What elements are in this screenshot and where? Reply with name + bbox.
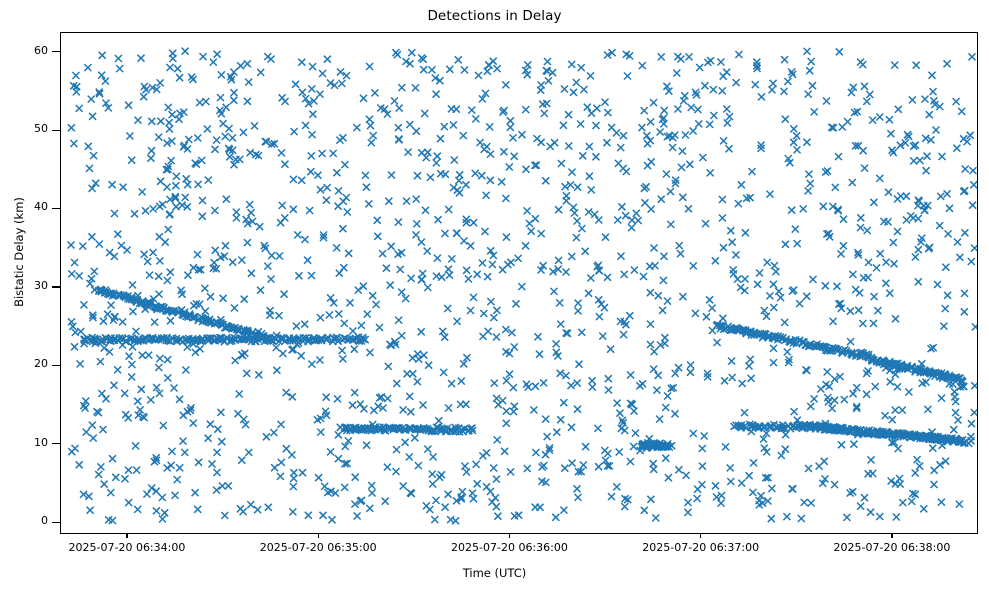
y-tick-label: 40	[4, 200, 48, 213]
y-tick-label: 10	[4, 436, 48, 449]
x-tick-mark	[700, 534, 701, 538]
x-tick-label: 2025-07-20 06:35:00	[238, 541, 398, 554]
x-axis-label: Time (UTC)	[0, 566, 989, 580]
x-tick-label: 2025-07-20 06:34:00	[47, 541, 207, 554]
y-tick-label: 60	[4, 44, 48, 57]
y-tick-mark	[52, 208, 60, 209]
y-tick-mark	[52, 286, 60, 287]
y-tick-label: 50	[4, 122, 48, 135]
x-tick-mark	[318, 534, 319, 538]
x-tick-label: 2025-07-20 06:37:00	[621, 541, 781, 554]
x-tick-mark	[509, 534, 510, 538]
y-tick-label: 0	[4, 514, 48, 527]
x-tick-label: 2025-07-20 06:36:00	[429, 541, 589, 554]
x-tick-mark	[126, 534, 127, 538]
plot-area	[60, 32, 978, 534]
figure-canvas: Detections in Delay Bistatic Delay (km) …	[0, 0, 989, 590]
y-tick-label: 20	[4, 357, 48, 370]
y-axis-label: Bistatic Delay (km)	[12, 1, 26, 503]
y-tick-mark	[52, 130, 60, 131]
y-tick-mark	[52, 522, 60, 523]
y-tick-label: 30	[4, 279, 48, 292]
y-tick-mark	[52, 365, 60, 366]
x-tick-label: 2025-07-20 06:38:00	[812, 541, 972, 554]
y-tick-mark	[52, 51, 60, 52]
x-tick-mark	[891, 534, 892, 538]
scatter-points	[61, 33, 978, 534]
y-tick-mark	[52, 443, 60, 444]
chart-title: Detections in Delay	[0, 8, 989, 24]
